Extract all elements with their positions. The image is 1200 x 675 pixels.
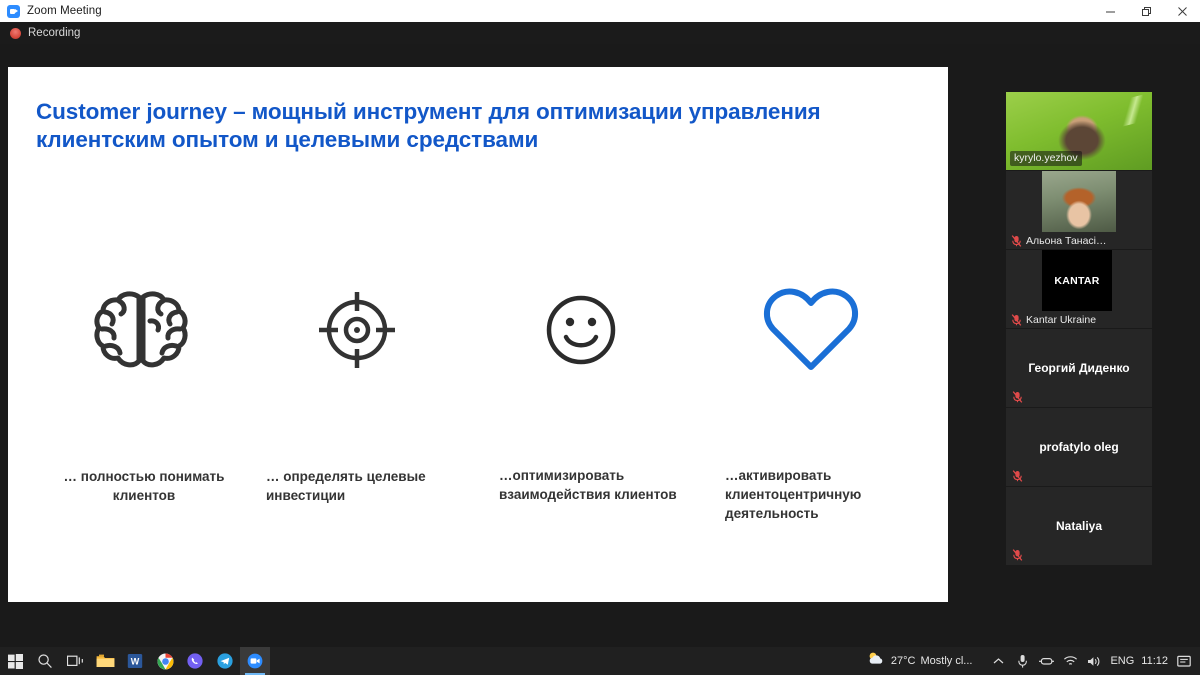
participant-name: Альона Танасі… <box>1026 235 1107 247</box>
volume-icon[interactable] <box>1086 647 1103 675</box>
participant-name: profatylo oleg <box>1006 408 1152 486</box>
recording-bar: Recording <box>0 22 1200 44</box>
participant-video <box>1042 171 1116 232</box>
heart-icon <box>761 286 861 374</box>
mic-muted-icon <box>1011 314 1022 326</box>
slide-caption-3: …активировать клиентоцентричную деятельн… <box>725 466 925 523</box>
mic-muted-icon <box>1012 548 1023 560</box>
partly-cloudy-icon <box>867 651 886 671</box>
task-view-icon[interactable] <box>60 647 90 675</box>
file-explorer-icon[interactable] <box>90 647 120 675</box>
slide-icon-row <box>36 272 920 387</box>
svg-text:W: W <box>131 657 140 667</box>
mic-muted-icon <box>1012 469 1023 481</box>
participant-tile-alona[interactable]: Альона Танасі… <box>1006 171 1152 249</box>
participant-footer: Kantar Ukraine <box>1006 311 1152 328</box>
minimize-icon[interactable] <box>1092 0 1128 22</box>
windows-taskbar: W <box>0 647 1200 675</box>
telegram-icon[interactable] <box>210 647 240 675</box>
window-title: Zoom Meeting <box>27 5 102 17</box>
slide-item-1 <box>262 272 452 387</box>
smiley-icon <box>540 289 622 371</box>
notification-icon[interactable] <box>1175 647 1192 675</box>
brain-icon <box>88 287 194 373</box>
avatar-text: KANTAR <box>1054 275 1099 287</box>
participant-name: Nataliya <box>1006 487 1152 565</box>
search-icon[interactable] <box>30 647 60 675</box>
taskbar-tray: 27°C Mostly cl... <box>867 647 1200 675</box>
wifi-icon[interactable] <box>1062 647 1079 675</box>
zoom-camera-icon <box>7 5 20 18</box>
recording-indicator-icon <box>10 28 21 39</box>
participant-name: kyrylo.yezhov <box>1010 151 1082 166</box>
participant-avatar: KANTAR <box>1042 250 1112 311</box>
target-icon <box>316 289 398 371</box>
close-icon[interactable] <box>1164 0 1200 22</box>
participant-strip: kyrylo.yezhov Альона Танасі… KANTAR <box>1006 92 1152 566</box>
device-icon[interactable] <box>1038 647 1055 675</box>
weather-condition: Mostly cl... <box>920 655 972 667</box>
restore-icon[interactable] <box>1128 0 1164 22</box>
mic-muted-icon <box>1012 390 1023 402</box>
participant-name: Георгий Диденко <box>1006 329 1152 407</box>
participant-tile-profatylo[interactable]: profatylo oleg <box>1006 408 1152 486</box>
window-titlebar: Zoom Meeting <box>0 0 1200 22</box>
weather-temperature: 27°C <box>891 655 916 667</box>
participant-tile-kyrylo[interactable]: kyrylo.yezhov <box>1006 92 1152 170</box>
recording-label: Recording <box>28 27 80 39</box>
slide-title: Customer journey – мощный инструмент для… <box>36 98 896 154</box>
slide-caption-2: …оптимизировать взаимодействия клиентов <box>499 466 704 504</box>
weather-widget[interactable]: 27°C Mostly cl... <box>867 651 973 671</box>
mic-muted-icon <box>1011 235 1022 247</box>
word-icon[interactable]: W <box>120 647 150 675</box>
slide-item-0 <box>46 272 236 387</box>
slide-item-3 <box>716 272 906 387</box>
participant-tile-nataliya[interactable]: Nataliya <box>1006 487 1152 565</box>
language-indicator[interactable]: ENG <box>1110 655 1134 667</box>
participant-tile-georgiy[interactable]: Георгий Диденко <box>1006 329 1152 407</box>
slide-caption-1: … определять целевые инвестиции <box>266 467 471 505</box>
window-controls <box>1092 0 1200 22</box>
microphone-icon[interactable] <box>1014 647 1031 675</box>
taskbar-clock[interactable]: 11:12 <box>1141 655 1168 668</box>
slide-caption-0: … полностью понимать клиентов <box>36 467 252 505</box>
shared-screen-slide[interactable]: Customer journey – мощный инструмент для… <box>8 67 948 602</box>
viber-icon[interactable] <box>180 647 210 675</box>
participant-tile-kantar-ukraine[interactable]: KANTAR Kantar Ukraine <box>1006 250 1152 328</box>
windows-start-icon[interactable] <box>0 647 30 675</box>
chevron-up-icon[interactable] <box>990 647 1007 675</box>
chrome-icon[interactable] <box>150 647 180 675</box>
participant-footer: Альона Танасі… <box>1006 232 1152 249</box>
participant-name: Kantar Ukraine <box>1026 314 1096 326</box>
slide-item-2 <box>486 272 676 387</box>
taskbar-apps: W <box>0 647 270 675</box>
zoom-icon[interactable] <box>240 647 270 675</box>
